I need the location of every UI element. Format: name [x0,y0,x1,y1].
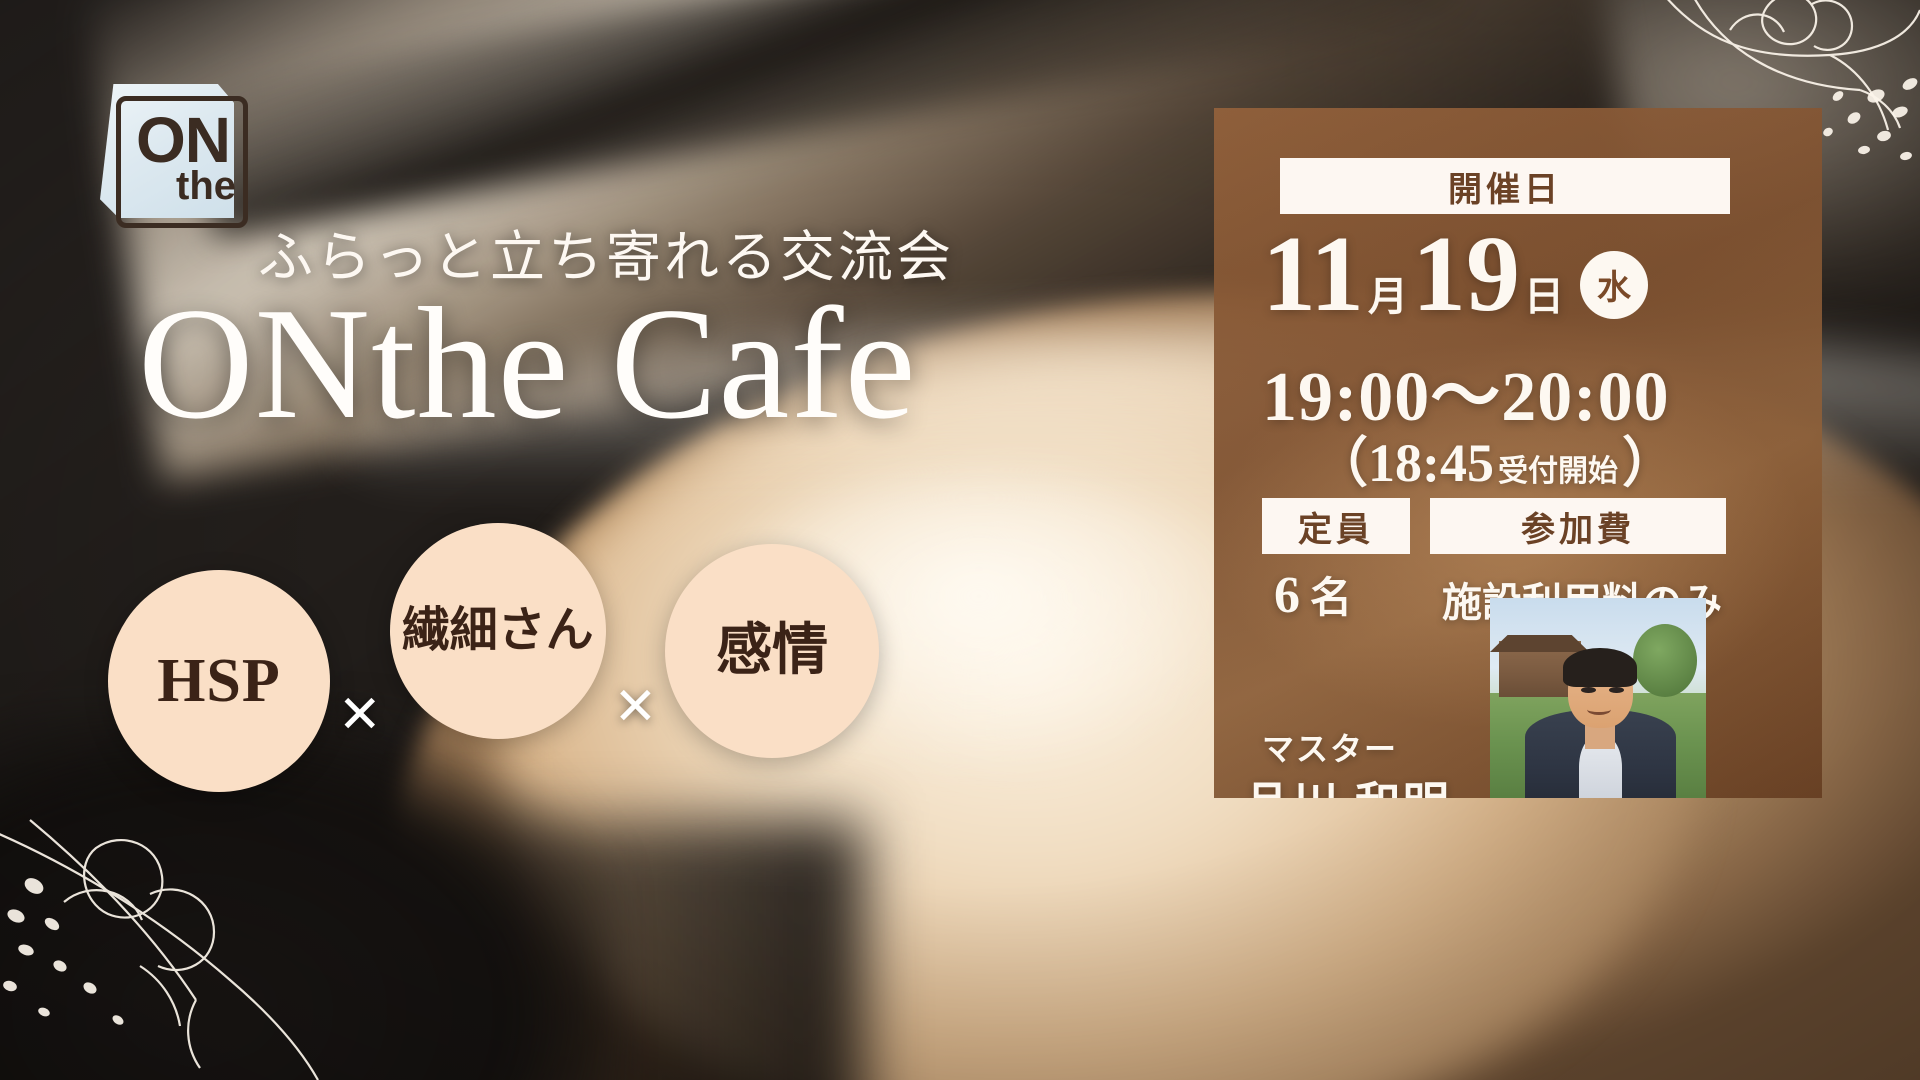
capacity-unit: 名 [1310,564,1352,625]
fee-label-badge: 参加費 [1430,498,1726,554]
keyword-circle-emotion: 感情 [665,544,879,758]
portrait-eye-right [1609,687,1624,693]
event-info-panel: 開催日 11 月 19 日 水 19:00〜20:00 （ 18:45 受付開始… [1214,108,1822,798]
keyword-circle-group: HSP ✕ 繊細さん ✕ 感情 [108,470,879,792]
date-label-badge: 開催日 [1280,158,1730,214]
keyword-circle-sensitive: 繊細さん [390,523,606,739]
reception-open-paren: （ [1314,418,1368,497]
capacity-value-row: 6 名 [1274,564,1352,625]
keyword-label-1: 繊細さん [402,607,594,655]
keyword-separator-icon-0: ✕ [338,689,382,741]
event-month-number: 11 [1262,224,1364,327]
event-month-unit: 月 [1364,277,1412,327]
onthe-logo[interactable]: ON the [92,78,252,226]
keyword-separator-icon-1: ✕ [614,681,658,733]
event-day-number: 19 [1412,224,1520,327]
keyword-circle-hsp: HSP [108,570,330,792]
keyword-label-2: 感情 [716,623,828,679]
reception-time: 18:45 [1368,432,1494,494]
keyword-label-0: HSP [157,650,281,712]
day-of-week-badge: 水 [1580,251,1648,319]
master-name: 品川 和明 [1244,768,1451,798]
reception-note: 受付開始 [1498,446,1618,490]
portrait-hair [1563,648,1636,687]
logo-text-the: the [176,166,236,206]
capacity-number: 6 [1274,566,1300,625]
event-title: ONthe Cafe [138,283,917,443]
reception-time-row: （ 18:45 受付開始 ） [1314,418,1676,497]
event-date-row: 11 月 19 日 水 [1262,224,1648,327]
portrait-smile [1587,704,1611,715]
master-label: マスター [1262,724,1398,770]
poster-canvas: ON the ふらっと立ち寄れる交流会 ONthe Cafe HSP ✕ 繊細さ… [0,0,1920,1080]
portrait-eye-left [1581,687,1596,693]
event-day-unit: 日 [1520,277,1568,327]
master-portrait-photo [1490,598,1706,798]
portrait-tree [1633,624,1698,697]
logo-text-on: ON [136,108,230,172]
reception-close-paren: ） [1622,418,1676,497]
capacity-label-badge: 定員 [1262,498,1410,554]
